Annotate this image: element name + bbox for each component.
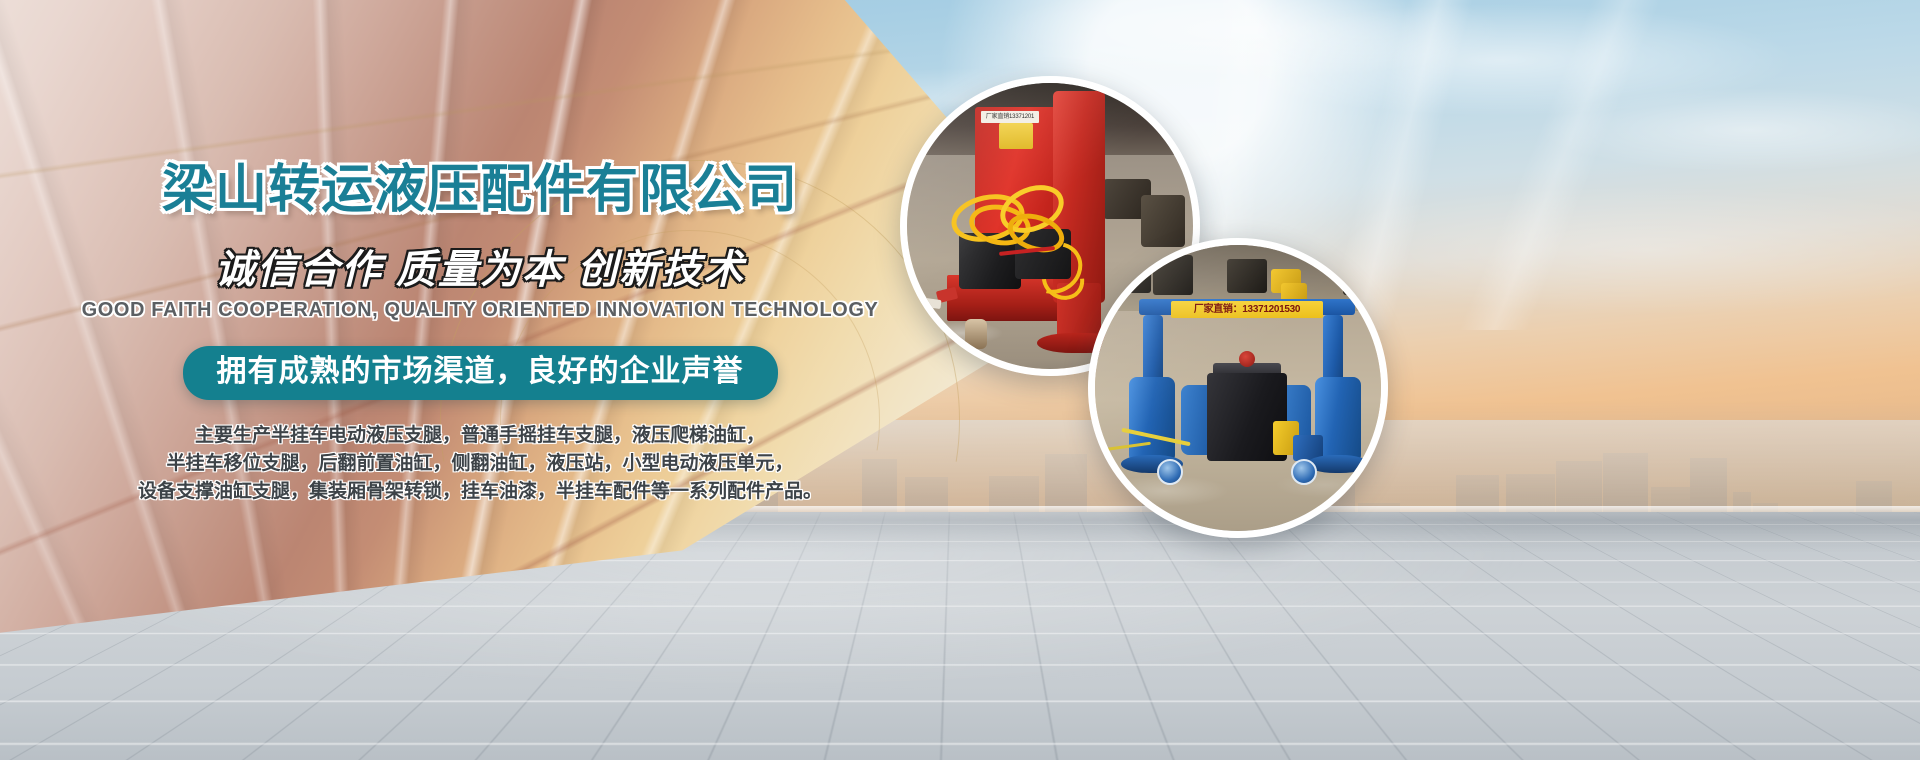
yard-clutter-item [1303,257,1341,293]
workshop-clutter-2 [1141,195,1185,247]
banner-copy-block: 梁山转运液压配件有限公司 诚信合作 质量为本 创新技术 GOOD FAITH C… [0,0,960,560]
hero-banner: 梁山转运液压配件有限公司 诚信合作 质量为本 创新技术 GOOD FAITH C… [0,0,1920,760]
caster-wheel-right [1291,459,1317,485]
factory-direct-phone-plate: 厂家直销：13371201530 [1171,301,1323,318]
yard-clutter-item [1191,267,1225,293]
yard-clutter-item [1227,259,1267,293]
product-description: 主要生产半挂车电动液压支腿，普通手摇挂车支腿，液压爬梯油缸， 半挂车移位支腿，后… [70,422,890,506]
market-reputation-badge: 拥有成熟的市场渠道，良好的企业声誉 [183,346,778,400]
description-line-3: 设备支撑油缸支腿，集装厢骨架转锁，挂车油漆，半挂车配件等一系列配件产品。 [70,478,890,506]
control-knob [1239,351,1255,367]
yard-clutter-group [1095,249,1388,305]
yard-clutter-item [1153,255,1193,295]
blue-hydraulic-support-legs-photo: 厂家直销：13371201530 [1088,238,1388,538]
blue-support-leg-1 [1129,377,1175,463]
highlight-pill-wrapper: 拥有成熟的市场渠道，良好的企业声誉 [0,346,960,400]
company-title: 梁山转运液压配件有限公司 [0,162,960,218]
machine-caster-wheel [965,319,987,349]
red-machine-plate-text: 厂家直销13371201 [981,111,1039,123]
description-line-1: 主要生产半挂车电动液压支腿，普通手摇挂车支腿，液压爬梯油缸， [70,422,890,450]
caster-wheel-left [1157,459,1183,485]
description-line-2: 半挂车移位支腿，后翻前置油缸，侧翻油缸，液压站，小型电动液压单元， [70,450,890,478]
warning-sticker [999,123,1033,149]
english-tagline: GOOD FAITH COOPERATION, QUALITY ORIENTED… [0,298,960,322]
yard-clutter-item [1343,265,1387,295]
chinese-slogan: 诚信合作 质量为本 创新技术 [0,248,960,292]
yard-clutter-item [1105,263,1151,293]
